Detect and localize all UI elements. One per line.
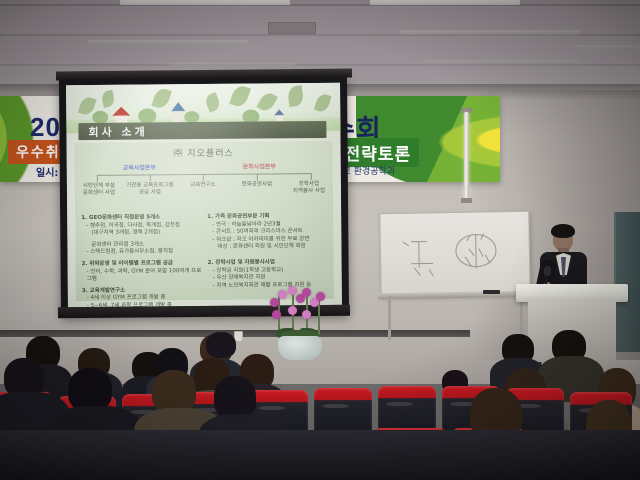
org-node-label: 교육연구소 <box>190 182 215 188</box>
floor <box>0 430 640 480</box>
wall-fluorescent-tube-icon <box>464 112 469 200</box>
slide-text-column-left: 1. GEO문화센터 직접운영 5개소- 행주점, 이곡점, 다사점, 죽계점,… <box>81 210 204 307</box>
ceiling-light-fixture <box>575 45 640 50</box>
illustration-house-blue <box>170 102 185 122</box>
org-node-label: 기관용 교육프로그램공급 사업 <box>126 182 173 195</box>
projection-screen: 회사 소개 ㈜ 지오플러스 교육사업본부 문화사업본부 시민단체 부설문 <box>59 77 349 318</box>
auditorium-seat <box>378 386 436 432</box>
slide-body: ㈜ 지오플러스 교육사업본부 문화사업본부 시민단체 부설문화센터 사업 기관용… <box>75 141 334 301</box>
ceiling-light-fixture <box>120 0 290 5</box>
org-node: 기관용 교육프로그램공급 사업 <box>126 182 174 196</box>
org-group-left-label: 교육사업본부 <box>123 162 156 171</box>
org-group-right-label: 문화사업본부 <box>243 161 276 170</box>
whiteboard-marker <box>483 290 500 294</box>
auditorium-seat <box>314 388 372 434</box>
ceiling-light-fixture <box>425 60 580 65</box>
org-chart: 교육사업본부 문화사업본부 시민단체 부설문화센터 사업 기관용 교육프로그램공… <box>75 161 333 207</box>
ceiling-light-fixture <box>88 40 248 45</box>
presenter-hair <box>551 224 575 238</box>
slide-text-line: - 언어, 수학, 과학, GYM 분야 포함 100여개 프로그램 <box>82 268 204 284</box>
org-node-label: 시민단체 부설문화센터 사업 <box>83 183 115 196</box>
presentation-slide: 회사 소개 ㈜ 지오플러스 교육사업본부 문화사업본부 시민단체 부설문 <box>66 83 342 307</box>
microphone-icon <box>544 266 551 276</box>
org-node: 문화공연사업 <box>233 181 281 188</box>
whiteboard-sketch-icon <box>380 212 529 297</box>
org-node-label: 장학사업지역봉사 사업 <box>293 181 325 194</box>
slide-text-column-right: 1. 가족 문화공연부문 기획- 연극 : 하늘을날아라 2년3월- 콘서트 :… <box>207 209 330 290</box>
slide-text-line: - 스택드림점, 유가읍사무소점, 봉직점 <box>81 248 203 257</box>
whiteboard <box>379 211 530 298</box>
org-node-label: 문화공연사업 <box>242 181 272 187</box>
tube-light-cap-bottom <box>461 198 472 203</box>
slide-title: 회사 소개 <box>88 123 147 140</box>
projection-screen-surface: 회사 소개 ㈜ 지오플러스 교육사업본부 문화사업본부 시민단체 부설문 <box>66 83 342 307</box>
ceiling-light-fixture <box>370 0 520 5</box>
illustration-house-red <box>112 107 130 123</box>
org-node: 시민단체 부설문화센터 사업 <box>75 183 123 197</box>
ceiling-light-fixture <box>170 63 295 68</box>
slide-company-name: ㈜ 지오플러스 <box>75 145 333 160</box>
org-node: 장학사업지역봉사 사업 <box>285 181 333 195</box>
org-node: 교육연구소 <box>179 182 227 189</box>
lecture-hall-photo: 200 수회 우수취업 공전략토론 일시: 2009. 대학교 환경공학과 <box>0 0 640 480</box>
ceiling-vent <box>268 22 316 34</box>
slide-title-bar: 회사 소개 <box>78 121 326 140</box>
ceiling-light-fixture <box>400 30 580 35</box>
